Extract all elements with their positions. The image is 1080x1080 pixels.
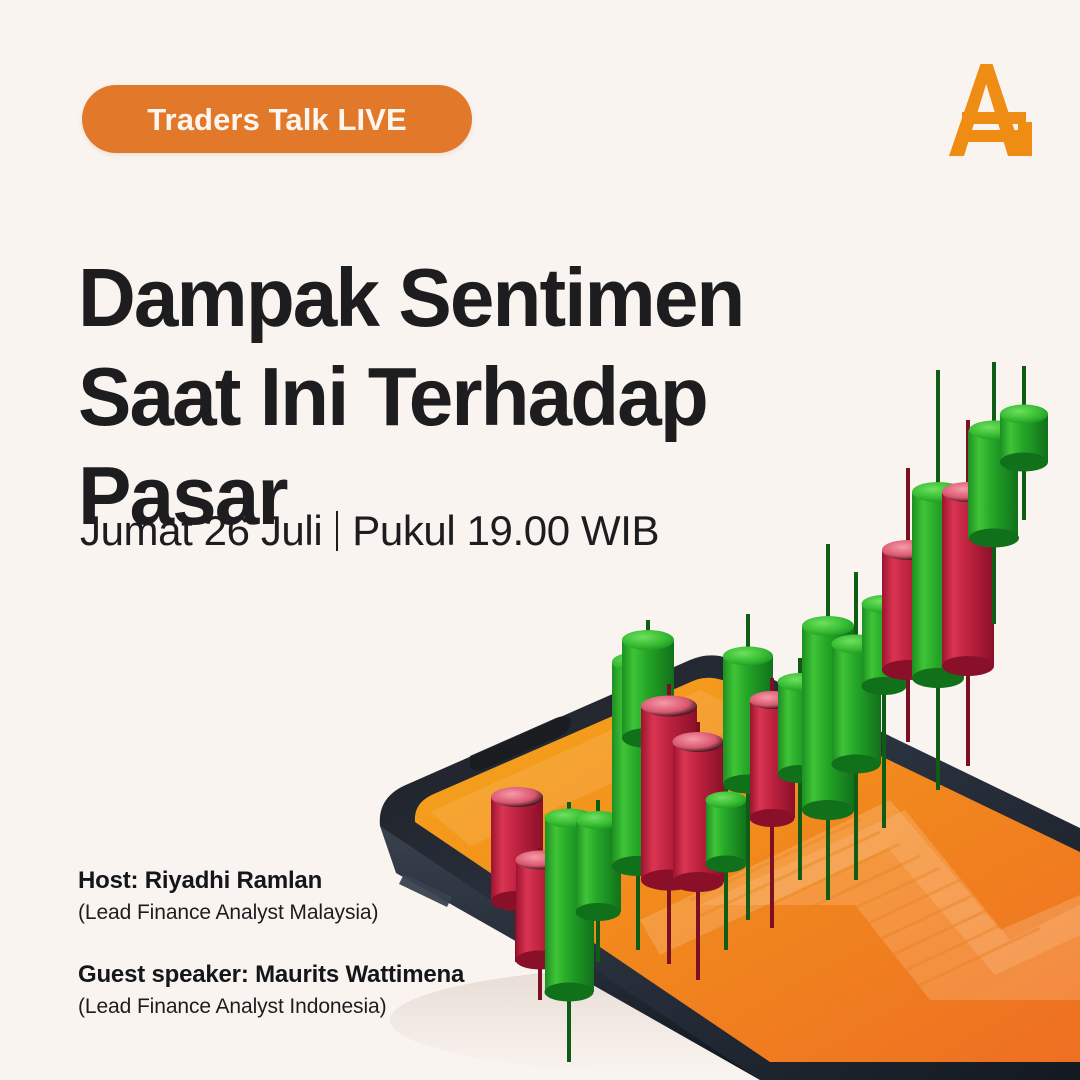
promo-poster: Traders Talk LIVE Dampak Sentimen Saat I…: [0, 0, 1080, 1080]
guest-role: (Lead Finance Analyst Indonesia): [78, 993, 548, 1020]
host-name: Host: Riyadhi Ramlan: [78, 866, 548, 896]
speaker-credits: Host: Riyadhi Ramlan (Lead Finance Analy…: [78, 866, 548, 1021]
guest-name: Guest speaker: Maurits Wattimena: [78, 960, 548, 990]
host-role: (Lead Finance Analyst Malaysia): [78, 899, 548, 926]
host-credit: Host: Riyadhi Ramlan (Lead Finance Analy…: [78, 866, 548, 926]
guest-credit: Guest speaker: Maurits Wattimena (Lead F…: [78, 960, 548, 1020]
